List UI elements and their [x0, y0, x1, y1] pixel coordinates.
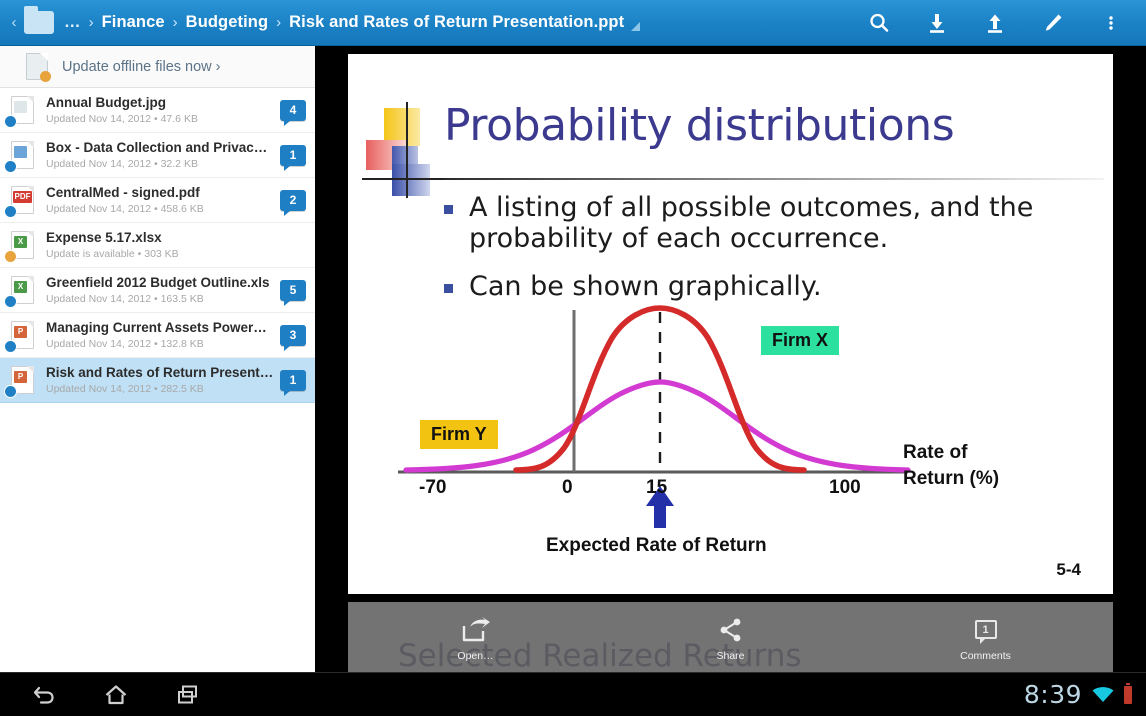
file-name: Managing Current Assets Power…	[46, 320, 274, 336]
overflow-menu-icon	[1108, 12, 1114, 34]
folder-icon[interactable]	[24, 11, 54, 34]
nav-back-button[interactable]	[8, 673, 80, 716]
comments-count-badge: 1	[975, 620, 997, 639]
recent-apps-icon	[175, 683, 201, 707]
file-list-sidebar[interactable]: Update offline files now › Annual Budget…	[0, 46, 315, 672]
file-name: Risk and Rates of Return Present…	[46, 365, 274, 381]
file-name: Greenfield 2012 Budget Outline.xls	[46, 275, 274, 291]
x-tick-label-100: 100	[829, 477, 861, 499]
breadcrumb-root[interactable]: …	[64, 13, 81, 32]
share-icon	[718, 615, 744, 645]
share-button[interactable]: Share	[603, 615, 858, 662]
download-icon	[926, 12, 948, 34]
top-bar-actions	[850, 0, 1146, 46]
offline-file-icon	[26, 53, 48, 80]
comment-count-badge[interactable]: 3	[280, 325, 306, 346]
update-offline-files-label: Update offline files now ›	[62, 59, 221, 75]
status-clock: 8:39	[1024, 680, 1082, 709]
wifi-icon	[1090, 685, 1116, 705]
breadcrumb: … › Finance › Budgeting › Risk and Rates…	[64, 13, 628, 32]
file-text-block: CentralMed - signed.pdfUpdated Nov 14, 2…	[46, 185, 280, 216]
share-label: Share	[716, 650, 744, 662]
file-meta: Updated Nov 14, 2012 • 282.5 KB	[46, 382, 274, 396]
file-icon-wrapper: PDF	[0, 178, 46, 223]
viewer-top-gutter	[315, 46, 1146, 54]
breadcrumb-separator: ›	[276, 14, 281, 31]
comment-count-badge[interactable]: 1	[280, 145, 306, 166]
file-list-item[interactable]: PRisk and Rates of Return Present…Update…	[0, 358, 315, 403]
file-type-glyph: X	[14, 281, 27, 293]
sync-status-badge	[4, 160, 17, 173]
file-text-block: Managing Current Assets Power…Updated No…	[46, 320, 280, 351]
comments-icon: 1	[975, 615, 997, 645]
open-with-label: Open…	[457, 650, 493, 662]
x-axis-label: Rate ofReturn (%)	[903, 440, 999, 491]
back-icon	[31, 683, 57, 707]
file-icon-wrapper: P	[0, 313, 46, 358]
slide-title: Probability distributions	[444, 100, 954, 151]
firm-y-legend-label: Firm Y	[420, 420, 498, 449]
bullet-square-icon	[444, 205, 453, 214]
search-button[interactable]	[850, 0, 908, 46]
breadcrumb-item-finance[interactable]: Finance	[102, 13, 165, 32]
status-area: 8:39	[1024, 680, 1146, 709]
breadcrumb-item-budgeting[interactable]: Budgeting	[186, 13, 268, 32]
viewer-left-gutter	[315, 46, 348, 672]
top-app-bar: ‹ … › Finance › Budgeting › Risk and Rat…	[0, 0, 1146, 46]
file-meta: Updated Nov 14, 2012 • 458.6 KB	[46, 202, 274, 216]
edit-pencil-icon	[1042, 12, 1064, 34]
slide-bullet-1-text: A listing of all possible outcomes, and …	[469, 192, 1044, 255]
file-type-glyph	[14, 101, 27, 113]
file-type-glyph: P	[14, 371, 27, 383]
overflow-menu-button[interactable]	[1082, 0, 1140, 46]
comment-count-badge[interactable]: 2	[280, 190, 306, 211]
sync-status-badge	[4, 115, 17, 128]
slide-page[interactable]: Probability distributions A listing of a…	[348, 54, 1113, 594]
file-list-item[interactable]: Annual Budget.jpgUpdated Nov 14, 2012 • …	[0, 88, 315, 133]
file-meta: Updated Nov 14, 2012 • 32.2 KB	[46, 157, 274, 171]
file-icon-wrapper: X	[0, 223, 46, 268]
file-icon-wrapper	[0, 88, 46, 133]
probability-distribution-chart: Firm X Firm Y -70 0 15 100 Rate ofReturn…	[388, 290, 1088, 590]
document-viewer[interactable]: Selected Realized Returns Probability di…	[315, 46, 1146, 672]
title-underline-rule	[444, 178, 1104, 180]
sync-status-badge	[4, 340, 17, 353]
file-icon-wrapper: X	[0, 268, 46, 313]
file-name: Annual Budget.jpg	[46, 95, 274, 111]
sync-status-badge	[4, 295, 17, 308]
comment-count-badge[interactable]: 1	[280, 370, 306, 391]
file-list-item[interactable]: PDFCentralMed - signed.pdfUpdated Nov 14…	[0, 178, 315, 223]
breadcrumb-separator: ›	[89, 14, 94, 31]
file-icon-wrapper: P	[0, 358, 46, 403]
x-tick-label-0: 0	[562, 477, 573, 499]
file-icon-wrapper	[0, 133, 46, 178]
comment-count-badge[interactable]: 5	[280, 280, 306, 301]
comments-label: Comments	[960, 650, 1011, 662]
file-list-item[interactable]: PManaging Current Assets Power…Updated N…	[0, 313, 315, 358]
file-meta: Updated Nov 14, 2012 • 132.8 KB	[46, 337, 274, 351]
home-icon	[103, 683, 129, 707]
slide-bullet-1: A listing of all possible outcomes, and …	[444, 192, 1044, 255]
file-type-glyph	[14, 146, 27, 158]
file-type-glyph: X	[14, 236, 27, 248]
upload-icon	[984, 12, 1006, 34]
slide-number: 5-4	[1056, 560, 1081, 580]
viewer-right-gutter	[1113, 46, 1146, 672]
file-meta: Updated Nov 14, 2012 • 47.6 KB	[46, 112, 274, 126]
firm-x-legend-label: Firm X	[761, 326, 839, 355]
file-list: Annual Budget.jpgUpdated Nov 14, 2012 • …	[0, 88, 315, 403]
battery-low-icon	[1124, 686, 1132, 704]
open-with-button[interactable]: Open…	[348, 615, 603, 662]
file-list-item[interactable]: XGreenfield 2012 Budget Outline.xlsUpdat…	[0, 268, 315, 313]
file-name: CentralMed - signed.pdf	[46, 185, 274, 201]
file-text-block: Greenfield 2012 Budget Outline.xlsUpdate…	[46, 275, 280, 306]
comments-button[interactable]: 1 Comments	[858, 615, 1113, 662]
nav-home-button[interactable]	[80, 673, 152, 716]
file-text-block: Box - Data Collection and Privac…Updated…	[46, 140, 280, 171]
open-in-icon	[461, 615, 491, 645]
expected-rate-of-return-label: Expected Rate of Return	[546, 535, 767, 557]
sync-status-badge	[4, 250, 17, 263]
file-name: Box - Data Collection and Privac…	[46, 140, 274, 156]
tablet-screen: ‹ … › Finance › Budgeting › Risk and Rat…	[0, 0, 1146, 716]
file-type-glyph: P	[14, 326, 27, 338]
chevron-left-icon[interactable]: ‹	[6, 14, 22, 31]
breadcrumb-separator: ›	[173, 14, 178, 31]
file-text-block: Expense 5.17.xlsxUpdate is available • 3…	[46, 230, 280, 261]
upload-button[interactable]	[966, 0, 1024, 46]
search-icon	[868, 12, 890, 34]
file-name: Expense 5.17.xlsx	[46, 230, 274, 246]
file-meta: Updated Nov 14, 2012 • 163.5 KB	[46, 292, 274, 306]
file-list-item[interactable]: XExpense 5.17.xlsxUpdate is available • …	[0, 223, 315, 268]
file-list-item[interactable]: Box - Data Collection and Privac…Updated…	[0, 133, 315, 178]
file-text-block: Annual Budget.jpgUpdated Nov 14, 2012 • …	[46, 95, 280, 126]
comment-count-badge[interactable]: 4	[280, 100, 306, 121]
breadcrumb-current-file[interactable]: Risk and Rates of Return Presentation.pp…	[289, 13, 628, 32]
nav-recent-apps-button[interactable]	[152, 673, 224, 716]
x-tick-label-15: 15	[646, 477, 667, 499]
download-button[interactable]	[908, 0, 966, 46]
file-type-glyph: PDF	[13, 191, 32, 203]
document-action-bar: Open… Share 1 Comments	[348, 602, 1113, 674]
update-offline-files-row[interactable]: Update offline files now ›	[0, 46, 315, 88]
sync-status-badge	[4, 385, 17, 398]
file-meta: Update is available • 303 KB	[46, 247, 274, 261]
edit-button[interactable]	[1024, 0, 1082, 46]
x-tick-label-minus70: -70	[419, 477, 446, 499]
sync-status-badge	[4, 205, 17, 218]
android-navigation-bar: 8:39	[0, 672, 1146, 716]
file-text-block: Risk and Rates of Return Present…Updated…	[46, 365, 280, 396]
